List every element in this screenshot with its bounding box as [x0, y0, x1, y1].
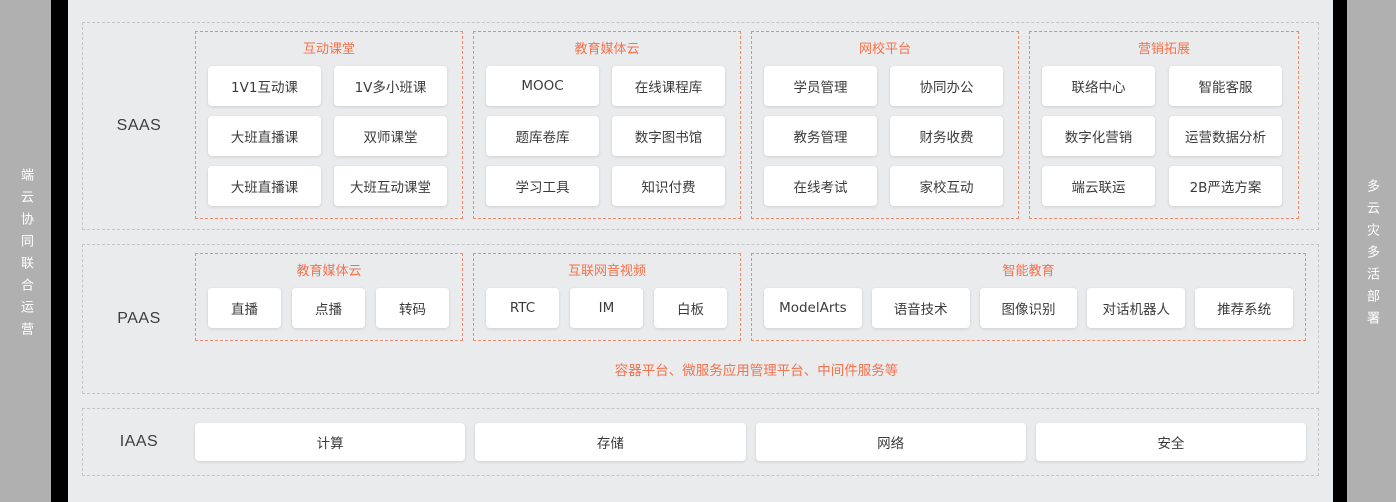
- card-item[interactable]: 教务管理: [764, 116, 877, 156]
- group-title: 互联网音视频: [568, 260, 646, 279]
- group-营销拓展: 营销拓展 联络中心 智能客服 数字化营销 运营数据分析 端云联运 2B严选方案: [1029, 31, 1299, 219]
- card-item[interactable]: ModelArts: [764, 288, 862, 328]
- right-rail-band: 多云灾多活部署: [1347, 0, 1396, 502]
- card-item[interactable]: 学习工具: [486, 166, 599, 206]
- layer-iaas: IAAS 计算 存储 网络 安全: [82, 408, 1319, 476]
- layer-body-paas: 教育媒体云 直播 点播 转码 互联网音视频 RTC IM 白板: [195, 245, 1318, 393]
- group-items: 学员管理 协同办公 教务管理 财务收费 在线考试 家校互动: [764, 66, 1006, 206]
- card-item[interactable]: 知识付费: [612, 166, 725, 206]
- card-item[interactable]: 家校互动: [890, 166, 1003, 206]
- card-item[interactable]: 大班直播课: [208, 116, 321, 156]
- layer-body-iaas: 计算 存储 网络 安全: [195, 409, 1318, 475]
- architecture-diagram: 端云协同联合运营 SAAS 互动课堂 1V1互动课 1V多小班课 大班直播课 双…: [0, 0, 1396, 502]
- card-item[interactable]: 在线考试: [764, 166, 877, 206]
- group-title: 互动课堂: [303, 38, 355, 57]
- card-item[interactable]: 直播: [208, 288, 281, 328]
- card-item[interactable]: 运营数据分析: [1169, 116, 1282, 156]
- card-item[interactable]: 题库卷库: [486, 116, 599, 156]
- left-rail-divider: [51, 0, 68, 502]
- right-rail-divider: [1333, 0, 1347, 502]
- layer-paas: PAAS 教育媒体云 直播 点播 转码 互联网音视频 RTC: [82, 244, 1319, 394]
- right-rail-label: 多云灾多活部署: [1365, 170, 1378, 333]
- group-title: 教育媒体云: [296, 260, 361, 279]
- card-item[interactable]: 计算: [195, 423, 465, 461]
- card-item[interactable]: 存储: [475, 423, 745, 461]
- group-items: 直播 点播 转码: [208, 288, 450, 328]
- iaas-items: 计算 存储 网络 安全: [195, 409, 1318, 475]
- card-item[interactable]: 网络: [756, 423, 1026, 461]
- group-教育媒体云-paas: 教育媒体云 直播 点播 转码: [195, 253, 463, 341]
- group-title: 教育媒体云: [574, 38, 639, 57]
- card-item[interactable]: 联络中心: [1042, 66, 1155, 106]
- card-item[interactable]: 协同办公: [890, 66, 1003, 106]
- card-item[interactable]: 大班互动课堂: [334, 166, 447, 206]
- card-item[interactable]: 图像识别: [980, 288, 1078, 328]
- group-互联网音视频: 互联网音视频 RTC IM 白板: [473, 253, 741, 341]
- group-title: 网校平台: [859, 38, 911, 57]
- card-item[interactable]: 在线课程库: [612, 66, 725, 106]
- diagram-canvas: SAAS 互动课堂 1V1互动课 1V多小班课 大班直播课 双师课堂 大班直播课…: [68, 0, 1333, 502]
- paas-footer-text: 容器平台、微服务应用管理平台、中间件服务等: [195, 341, 1318, 393]
- card-item[interactable]: 白板: [654, 288, 727, 328]
- group-网校平台: 网校平台 学员管理 协同办公 教务管理 财务收费 在线考试 家校互动: [751, 31, 1019, 219]
- group-items: MOOC 在线课程库 题库卷库 数字图书馆 学习工具 知识付费: [486, 66, 728, 206]
- card-item[interactable]: IM: [570, 288, 643, 328]
- card-item[interactable]: 财务收费: [890, 116, 1003, 156]
- left-rail-band: 端云协同联合运营: [0, 0, 51, 502]
- card-item[interactable]: 双师课堂: [334, 116, 447, 156]
- group-教育媒体云: 教育媒体云 MOOC 在线课程库 题库卷库 数字图书馆 学习工具 知识付费: [473, 31, 741, 219]
- card-item[interactable]: 转码: [376, 288, 449, 328]
- layer-saas: SAAS 互动课堂 1V1互动课 1V多小班课 大班直播课 双师课堂 大班直播课…: [82, 22, 1319, 230]
- left-rail-label: 端云协同联合运营: [19, 159, 32, 344]
- card-item[interactable]: 1V1互动课: [208, 66, 321, 106]
- card-item[interactable]: 端云联运: [1042, 166, 1155, 206]
- paas-groups: 教育媒体云 直播 点播 转码 互联网音视频 RTC IM 白板: [195, 245, 1318, 341]
- card-item[interactable]: 智能客服: [1169, 66, 1282, 106]
- card-item[interactable]: 1V多小班课: [334, 66, 447, 106]
- card-item[interactable]: MOOC: [486, 66, 599, 106]
- card-item[interactable]: 数字图书馆: [612, 116, 725, 156]
- card-item[interactable]: 安全: [1036, 423, 1306, 461]
- card-item[interactable]: 点播: [292, 288, 365, 328]
- card-item[interactable]: 大班直播课: [208, 166, 321, 206]
- group-items: 1V1互动课 1V多小班课 大班直播课 双师课堂 大班直播课 大班互动课堂: [208, 66, 450, 206]
- group-title: 智能教育: [1002, 260, 1054, 279]
- card-item[interactable]: 2B严选方案: [1169, 166, 1282, 206]
- group-items: 联络中心 智能客服 数字化营销 运营数据分析 端云联运 2B严选方案: [1042, 66, 1286, 206]
- card-item[interactable]: 学员管理: [764, 66, 877, 106]
- group-title: 营销拓展: [1138, 38, 1190, 57]
- layer-label-saas: SAAS: [83, 23, 195, 229]
- group-items: RTC IM 白板: [486, 288, 728, 328]
- card-item[interactable]: RTC: [486, 288, 559, 328]
- layer-label-paas: PAAS: [83, 245, 195, 393]
- saas-groups: 互动课堂 1V1互动课 1V多小班课 大班直播课 双师课堂 大班直播课 大班互动…: [195, 23, 1318, 229]
- layer-label-iaas: IAAS: [83, 409, 195, 475]
- group-items: ModelArts 语音技术 图像识别 对话机器人 推荐系统: [764, 288, 1293, 328]
- card-item[interactable]: 对话机器人: [1087, 288, 1185, 328]
- layer-body-saas: 互动课堂 1V1互动课 1V多小班课 大班直播课 双师课堂 大班直播课 大班互动…: [195, 23, 1318, 229]
- card-item[interactable]: 语音技术: [872, 288, 970, 328]
- card-item[interactable]: 推荐系统: [1195, 288, 1293, 328]
- group-智能教育: 智能教育 ModelArts 语音技术 图像识别 对话机器人 推荐系统: [751, 253, 1306, 341]
- card-item[interactable]: 数字化营销: [1042, 116, 1155, 156]
- group-互动课堂: 互动课堂 1V1互动课 1V多小班课 大班直播课 双师课堂 大班直播课 大班互动…: [195, 31, 463, 219]
